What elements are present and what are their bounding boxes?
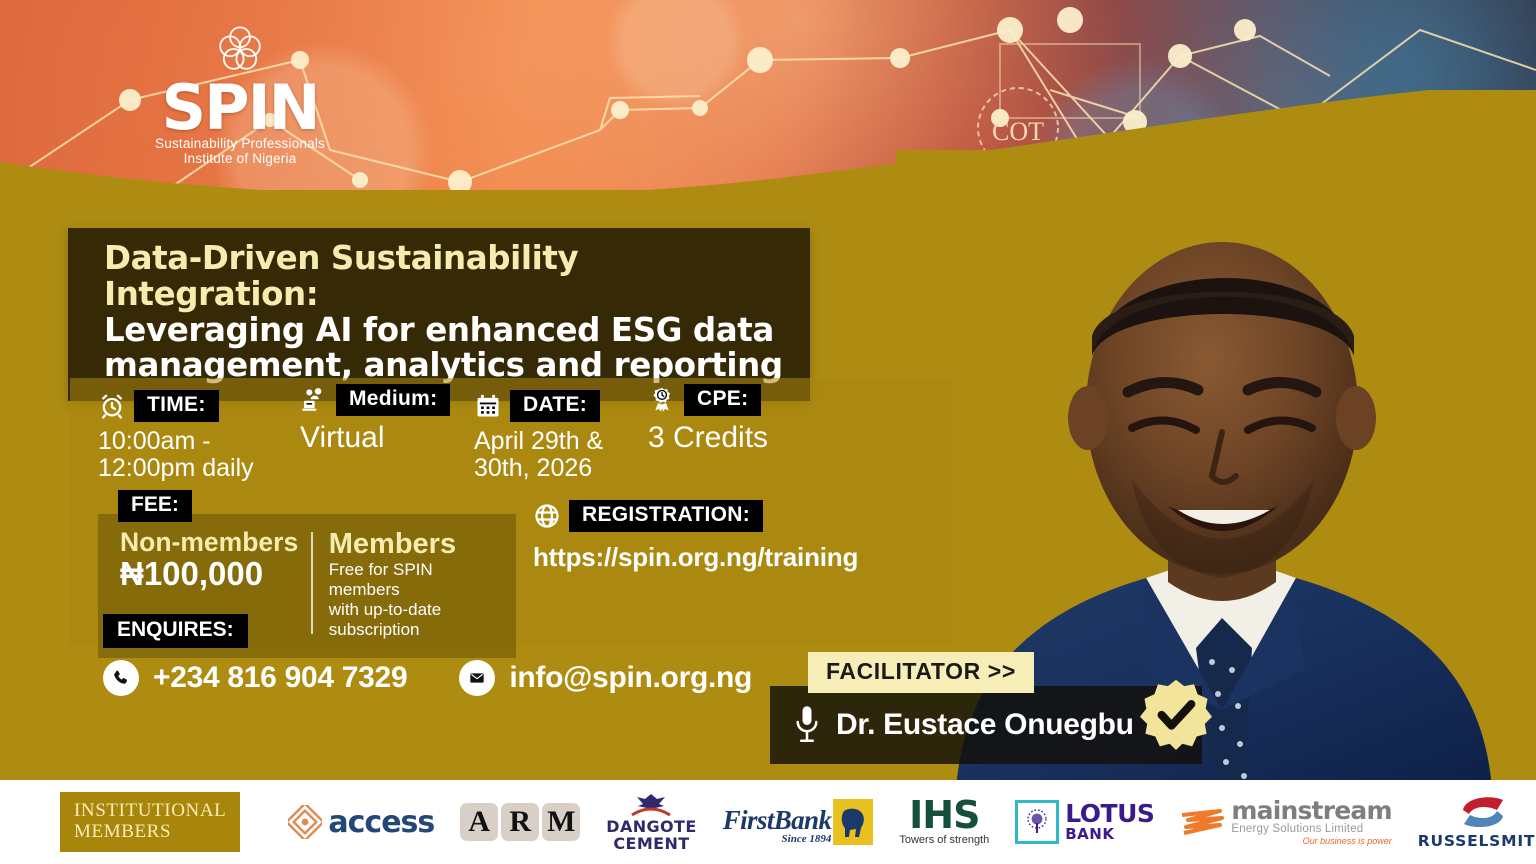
date-value: April 29th & 30th, 2026 (474, 428, 603, 481)
event-title-block: Data-Driven Sustainability Integration: … (68, 228, 810, 401)
sponsor-logos: access A R M DANGOTE CEMENT FirstB (288, 791, 1536, 853)
enquires-label: ENQUIRES: (103, 614, 248, 648)
phone-icon (103, 660, 139, 696)
cpe-label: CPE: (684, 384, 761, 416)
mainstream-wordmark: mainstream (1231, 798, 1391, 823)
alarm-clock-icon (98, 392, 126, 420)
lotus-wordmark: LOTUS (1065, 802, 1154, 825)
phone-number: +234 816 904 7329 (153, 661, 407, 695)
fee-nonmembers-amount: ₦100,000 (120, 556, 311, 593)
people-presenter-icon (300, 386, 328, 414)
arm-letter-a: A (460, 803, 498, 841)
mainstream-sub: Energy Solutions Limited (1231, 823, 1391, 836)
time-label: TIME: (134, 390, 219, 422)
event-flyer: COT 3,40 SPIN Sustainability Professiona… (0, 0, 1536, 864)
medium-value: Virtual (300, 422, 450, 454)
dangote-eagle-icon (628, 791, 674, 819)
registration-url[interactable]: https://spin.org.ng/training (533, 542, 858, 573)
fee-label: FEE: (118, 490, 192, 522)
institutional-members-badge: INSTITUTIONAL MEMBERS (60, 792, 240, 853)
globe-icon (533, 502, 561, 530)
ihs-tagline: Towers of strength (899, 834, 989, 846)
award-ribbon-icon (648, 386, 676, 414)
cpe-value: 3 Credits (648, 422, 768, 454)
registration-label: REGISTRATION: (569, 500, 763, 532)
detail-time: TIME: 10:00am - 12:00pm daily (98, 390, 254, 481)
enquires-phone[interactable]: +234 816 904 7329 (103, 660, 407, 696)
time-value: 10:00am - 12:00pm daily (98, 428, 254, 481)
email-address: info@spin.org.ng (509, 661, 752, 695)
medium-label: Medium: (336, 384, 450, 416)
microphone-icon (792, 703, 822, 747)
logo-russelsmith: RUSSELSMITH (1418, 794, 1536, 850)
dangote-wordmark: DANGOTE CEMENT (606, 819, 696, 853)
envelope-icon (459, 660, 495, 696)
logo-mainstream: mainstream Energy Solutions Limited Our … (1180, 798, 1391, 846)
access-wordmark: access (328, 805, 434, 840)
enquires-contacts: +234 816 904 7329 info@spin.org.ng (103, 660, 752, 696)
title-line-1: Data-Driven Sustainability Integration: (104, 241, 784, 313)
russelsmith-emblem-icon (1455, 794, 1511, 830)
russelsmith-wordmark: RUSSELSMITH (1418, 832, 1536, 850)
logo-arm: A R M (460, 803, 580, 841)
verified-check-badge-icon (1140, 678, 1212, 750)
fee-nonmembers-title: Non-members (120, 528, 311, 556)
institutional-members-footer: INSTITUTIONAL MEMBERS access A R M (0, 780, 1536, 864)
title-line-2: Leveraging AI for enhanced ESG data (104, 313, 784, 349)
firstbank-elephant-icon (833, 799, 873, 845)
logo-access: access (288, 805, 434, 840)
detail-chips-row: TIME: 10:00am - 12:00pm daily (70, 378, 952, 488)
logo-ihs: IHS Towers of strength (899, 798, 989, 846)
calendar-icon (474, 392, 502, 420)
registration-section: REGISTRATION: https://spin.org.ng/traini… (533, 500, 858, 573)
logo-lotus-bank: LOTUS BANK (1015, 800, 1154, 844)
spin-flower-logo-icon (213, 22, 267, 76)
fee-members-title: Members (329, 530, 492, 559)
logo-firstbank: FirstBank Since 1894 (723, 799, 874, 845)
logo-dangote-cement: DANGOTE CEMENT (606, 791, 696, 853)
detail-date: DATE: April 29th & 30th, 2026 (474, 390, 603, 481)
facilitator-badge: FACILITATOR >> (808, 652, 1034, 693)
arm-letter-r: R (501, 803, 539, 841)
detail-medium: Medium: Virtual (300, 384, 450, 454)
lotus-tree-icon (1015, 800, 1059, 844)
detail-cpe: CPE: 3 Credits (648, 384, 768, 454)
firstbank-wordmark: FirstBank (723, 805, 832, 836)
facilitator-bar: Dr. Eustace Onuegbu (770, 686, 1202, 764)
date-label: DATE: (510, 390, 600, 422)
enquires-email[interactable]: info@spin.org.ng (459, 660, 752, 696)
facilitator-name: Dr. Eustace Onuegbu (836, 708, 1134, 742)
enquires-section: ENQUIRES: +234 816 904 7329 info (103, 614, 752, 696)
mainstream-tagline: Our business is power (1231, 836, 1391, 846)
access-diamond-icon (288, 805, 322, 839)
ihs-wordmark: IHS (909, 798, 979, 832)
event-details-panel: TIME: 10:00am - 12:00pm daily (70, 378, 952, 646)
arm-letter-m: M (542, 803, 580, 841)
mainstream-swoosh-icon (1180, 805, 1226, 839)
